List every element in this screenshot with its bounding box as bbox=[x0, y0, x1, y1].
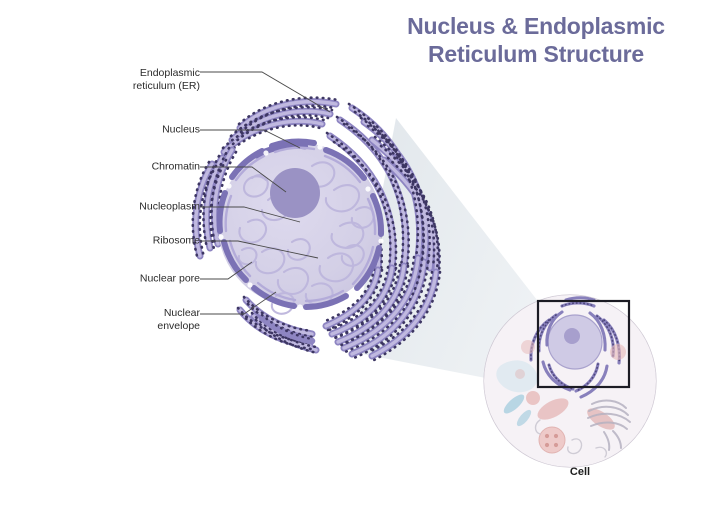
cell-organelles bbox=[484, 295, 656, 467]
leader-line-endoplasmic-reticulum bbox=[200, 72, 330, 112]
label-nucleus: Nucleus bbox=[96, 123, 200, 136]
label-chromatin: Chromatin bbox=[86, 160, 200, 173]
label-nuclear-envelope: Nuclear envelope bbox=[96, 307, 200, 333]
label-endoplasmic-reticulum: Endoplasmic reticulum (ER) bbox=[96, 67, 200, 93]
cell-inset bbox=[484, 295, 656, 467]
label-ribosome: Ribosome bbox=[86, 234, 200, 247]
inset-lysosome bbox=[539, 427, 565, 453]
cell-caption: Cell bbox=[515, 466, 645, 478]
label-nuclear-pore: Nuclear pore bbox=[76, 272, 200, 285]
figure-canvas: Nucleus & Endoplasmic Reticulum Structur… bbox=[0, 0, 720, 512]
label-nucleoplasm: Nucleoplasm bbox=[76, 200, 200, 213]
nucleolus bbox=[270, 168, 320, 218]
